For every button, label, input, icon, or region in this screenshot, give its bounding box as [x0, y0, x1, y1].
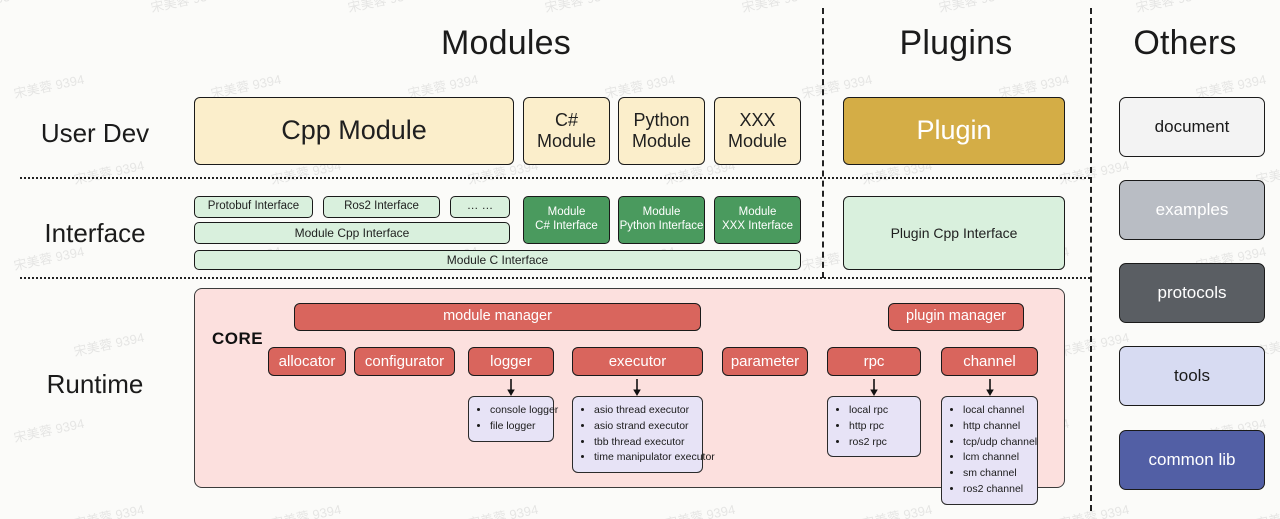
list-item: local channel: [963, 403, 1029, 419]
watermark-text: 宋美蓉 9394: [12, 69, 86, 102]
watermark-text: 宋美蓉 9394: [72, 155, 146, 188]
arrow-down-channel: [983, 379, 997, 396]
core-box-rpc[interactable]: rpc: [827, 347, 921, 376]
list-item: file logger: [490, 419, 545, 435]
list-item: asio strand executor: [594, 419, 694, 435]
list-item: tcp/udp channel: [963, 435, 1029, 451]
list-item: ros2 rpc: [849, 435, 912, 451]
interface-box-module-c[interactable]: Module C Interface: [194, 250, 801, 270]
plugin-box[interactable]: Plugin: [843, 97, 1065, 165]
interface-box-module-cpp[interactable]: Module Cpp Interface: [194, 222, 510, 244]
list-item: http rpc: [849, 419, 912, 435]
module-box-cpp[interactable]: Cpp Module: [194, 97, 514, 165]
core-sublist-items-executor: asio thread executorasio strand executor…: [581, 403, 694, 466]
watermark-text: 宋美蓉 9394: [1057, 499, 1131, 519]
other-box-common-lib[interactable]: common lib: [1119, 430, 1265, 490]
interface-box-plugin-cpp[interactable]: Plugin Cpp Interface: [843, 196, 1065, 270]
divider-userdev-interface: [20, 177, 1090, 179]
core-box-allocator[interactable]: allocator: [268, 347, 346, 376]
list-item: asio thread executor: [594, 403, 694, 419]
core-sublist-logger: console loggerfile logger: [468, 396, 554, 442]
column-title-modules: Modules: [190, 24, 822, 63]
watermark-text: 宋美蓉 9394: [346, 0, 420, 16]
row-label-user-dev: User Dev: [0, 118, 190, 149]
core-sublist-items-logger: console loggerfile logger: [477, 403, 545, 435]
module-box-python[interactable]: Python Module: [618, 97, 705, 165]
arrow-down-logger: [504, 379, 518, 396]
other-box-protocols[interactable]: protocols: [1119, 263, 1265, 323]
watermark-text: 宋美蓉 9394: [12, 413, 86, 446]
architecture-diagram: 宋美蓉 9394宋美蓉 9394宋美蓉 9394宋美蓉 9394宋美蓉 9394…: [0, 0, 1280, 519]
watermark-text: 宋美蓉 9394: [1254, 499, 1280, 519]
core-sublist-items-rpc: local rpchttp rpcros2 rpc: [836, 403, 912, 450]
list-item: console logger: [490, 403, 545, 419]
core-sublist-rpc: local rpchttp rpcros2 rpc: [827, 396, 921, 457]
other-box-document[interactable]: document: [1119, 97, 1265, 157]
core-label: CORE: [212, 329, 263, 349]
list-item: time manipulator executor: [594, 450, 694, 466]
interface-box-module-csharp[interactable]: Module C# Interface: [523, 196, 610, 244]
divider-plugins-others: [1090, 8, 1092, 511]
plugin-manager-box[interactable]: plugin manager: [888, 303, 1024, 331]
list-item: http channel: [963, 419, 1029, 435]
watermark-text: 宋美蓉 9394: [0, 0, 26, 16]
interface-box-protobuf[interactable]: Protobuf Interface: [194, 196, 313, 218]
list-item: tbb thread executor: [594, 435, 694, 451]
core-box-parameter[interactable]: parameter: [722, 347, 808, 376]
interface-box-module-python[interactable]: Module Python Interface: [618, 196, 705, 244]
core-box-logger[interactable]: logger: [468, 347, 554, 376]
other-box-tools[interactable]: tools: [1119, 346, 1265, 406]
module-box-xxx[interactable]: XXX Module: [714, 97, 801, 165]
other-box-examples[interactable]: examples: [1119, 180, 1265, 240]
watermark-text: 宋美蓉 9394: [1134, 0, 1208, 16]
watermark-text: 宋美蓉 9394: [269, 499, 343, 519]
core-box-configurator[interactable]: configurator: [354, 347, 455, 376]
row-label-runtime: Runtime: [0, 369, 190, 400]
watermark-text: 宋美蓉 9394: [466, 499, 540, 519]
list-item: ros2 channel: [963, 482, 1029, 498]
core-sublist-executor: asio thread executorasio strand executor…: [572, 396, 703, 473]
row-label-interface: Interface: [0, 218, 190, 249]
watermark-text: 宋美蓉 9394: [663, 499, 737, 519]
core-box-executor[interactable]: executor: [572, 347, 703, 376]
column-title-plugins: Plugins: [822, 24, 1090, 63]
interface-box-module-xxx[interactable]: Module XXX Interface: [714, 196, 801, 244]
watermark-text: 宋美蓉 9394: [740, 0, 814, 16]
interface-box-ellipsis[interactable]: … …: [450, 196, 510, 218]
core-sublist-channel: local channelhttp channeltcp/udp channel…: [941, 396, 1038, 505]
watermark-text: 宋美蓉 9394: [72, 327, 146, 360]
core-sublist-items-channel: local channelhttp channeltcp/udp channel…: [950, 403, 1029, 498]
watermark-text: 宋美蓉 9394: [72, 499, 146, 519]
divider-interface-runtime: [20, 277, 1090, 279]
watermark-text: 宋美蓉 9394: [543, 0, 617, 16]
module-manager-box[interactable]: module manager: [294, 303, 701, 331]
core-box-channel[interactable]: channel: [941, 347, 1038, 376]
watermark-text: 宋美蓉 9394: [860, 499, 934, 519]
list-item: sm channel: [963, 466, 1029, 482]
watermark-text: 宋美蓉 9394: [937, 0, 1011, 16]
arrow-down-rpc: [867, 379, 881, 396]
list-item: local rpc: [849, 403, 912, 419]
module-box-csharp[interactable]: C# Module: [523, 97, 610, 165]
column-title-others: Others: [1090, 24, 1280, 63]
watermark-text: 宋美蓉 9394: [149, 0, 223, 16]
interface-box-ros2[interactable]: Ros2 Interface: [323, 196, 440, 218]
list-item: lcm channel: [963, 450, 1029, 466]
arrow-down-executor: [630, 379, 644, 396]
